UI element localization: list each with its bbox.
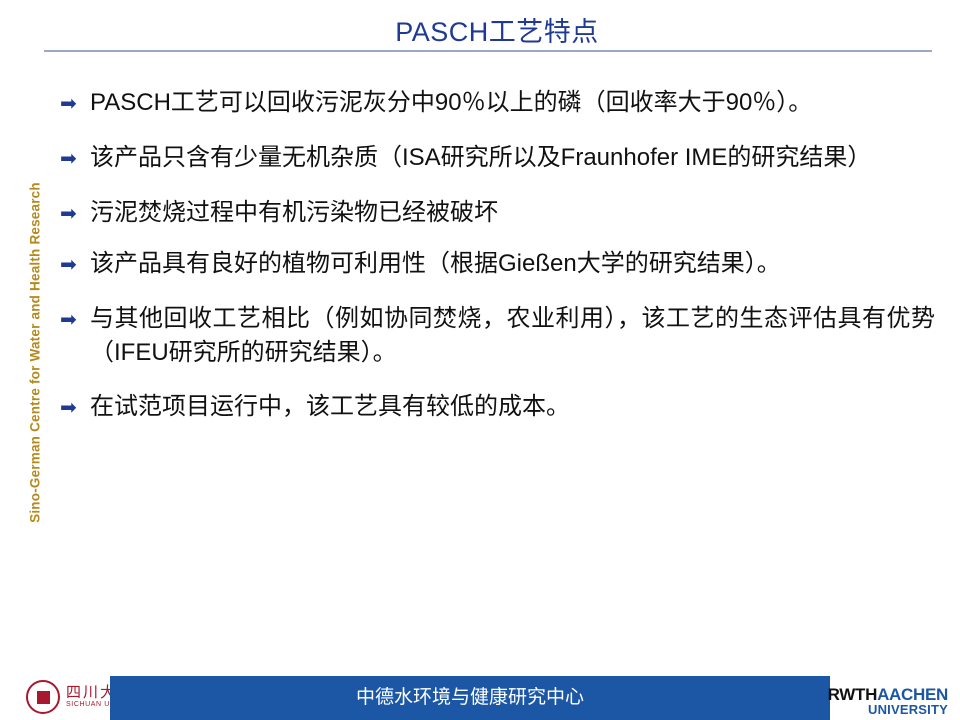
page-title: PASCH工艺特点 [34, 10, 960, 49]
header: PASCH工艺特点 [34, 0, 960, 52]
list-item: ➡ 该产品只含有少量无机杂质（ISA研究所以及Fraunhofer IME的研究… [60, 141, 935, 176]
list-item-text: 该产品具有良好的植物可利用性（根据Gießen大学的研究结果）。 [90, 247, 935, 281]
arrow-bullet-icon: ➡ [60, 302, 90, 337]
rwth-logo-line2: UNIVERSITY [828, 703, 948, 716]
list-item-text: 在试范项目运行中，该工艺具有较低的成本。 [90, 390, 935, 424]
sichuan-seal-icon [26, 680, 60, 714]
sidebar-vertical-label: Sino-German Centre for Water and Health … [28, 43, 43, 663]
list-item: ➡ PASCH工艺可以回收污泥灰分中90％以上的磷（回收率大于90％）。 [60, 86, 935, 121]
bullet-list: ➡ PASCH工艺可以回收污泥灰分中90％以上的磷（回收率大于90％）。 ➡ 该… [60, 86, 935, 445]
rwth-logo-line1: RWTHAACHEN [828, 686, 948, 703]
footer-center-band: 中德水环境与健康研究中心 [110, 676, 830, 720]
list-item-text: 该产品只含有少量无机杂质（ISA研究所以及Fraunhofer IME的研究结果… [90, 141, 935, 175]
list-item-text: 与其他回收工艺相比（例如协同焚烧，农业利用），该工艺的生态评估具有优势（IFEU… [90, 302, 935, 370]
arrow-bullet-icon: ➡ [60, 196, 90, 231]
list-item-text: 污泥焚烧过程中有机污染物已经被破坏 [90, 196, 935, 230]
arrow-bullet-icon: ➡ [60, 141, 90, 176]
arrow-bullet-icon: ➡ [60, 247, 90, 282]
list-item: ➡ 该产品具有良好的植物可利用性（根据Gießen大学的研究结果）。 [60, 247, 935, 282]
footer: 四川大学 SICHUAN UNIVERSITY 中德水环境与健康研究中心 RWT… [0, 676, 960, 720]
list-item: ➡ 在试范项目运行中，该工艺具有较低的成本。 [60, 390, 935, 425]
title-divider [44, 50, 932, 52]
footer-center-text: 中德水环境与健康研究中心 [110, 676, 830, 720]
sidebar: Sino-German Centre for Water and Health … [0, 0, 34, 720]
list-item: ➡ 与其他回收工艺相比（例如协同焚烧，农业利用），该工艺的生态评估具有优势（IF… [60, 302, 935, 370]
list-item-text: PASCH工艺可以回收污泥灰分中90％以上的磷（回收率大于90％）。 [90, 86, 935, 120]
arrow-bullet-icon: ➡ [60, 86, 90, 121]
slide-root: Sino-German Centre for Water and Health … [0, 0, 960, 720]
list-item: ➡ 污泥焚烧过程中有机污染物已经被破坏 [60, 196, 935, 231]
arrow-bullet-icon: ➡ [60, 390, 90, 425]
rwth-aachen-logo: RWTHAACHEN UNIVERSITY [828, 686, 948, 716]
